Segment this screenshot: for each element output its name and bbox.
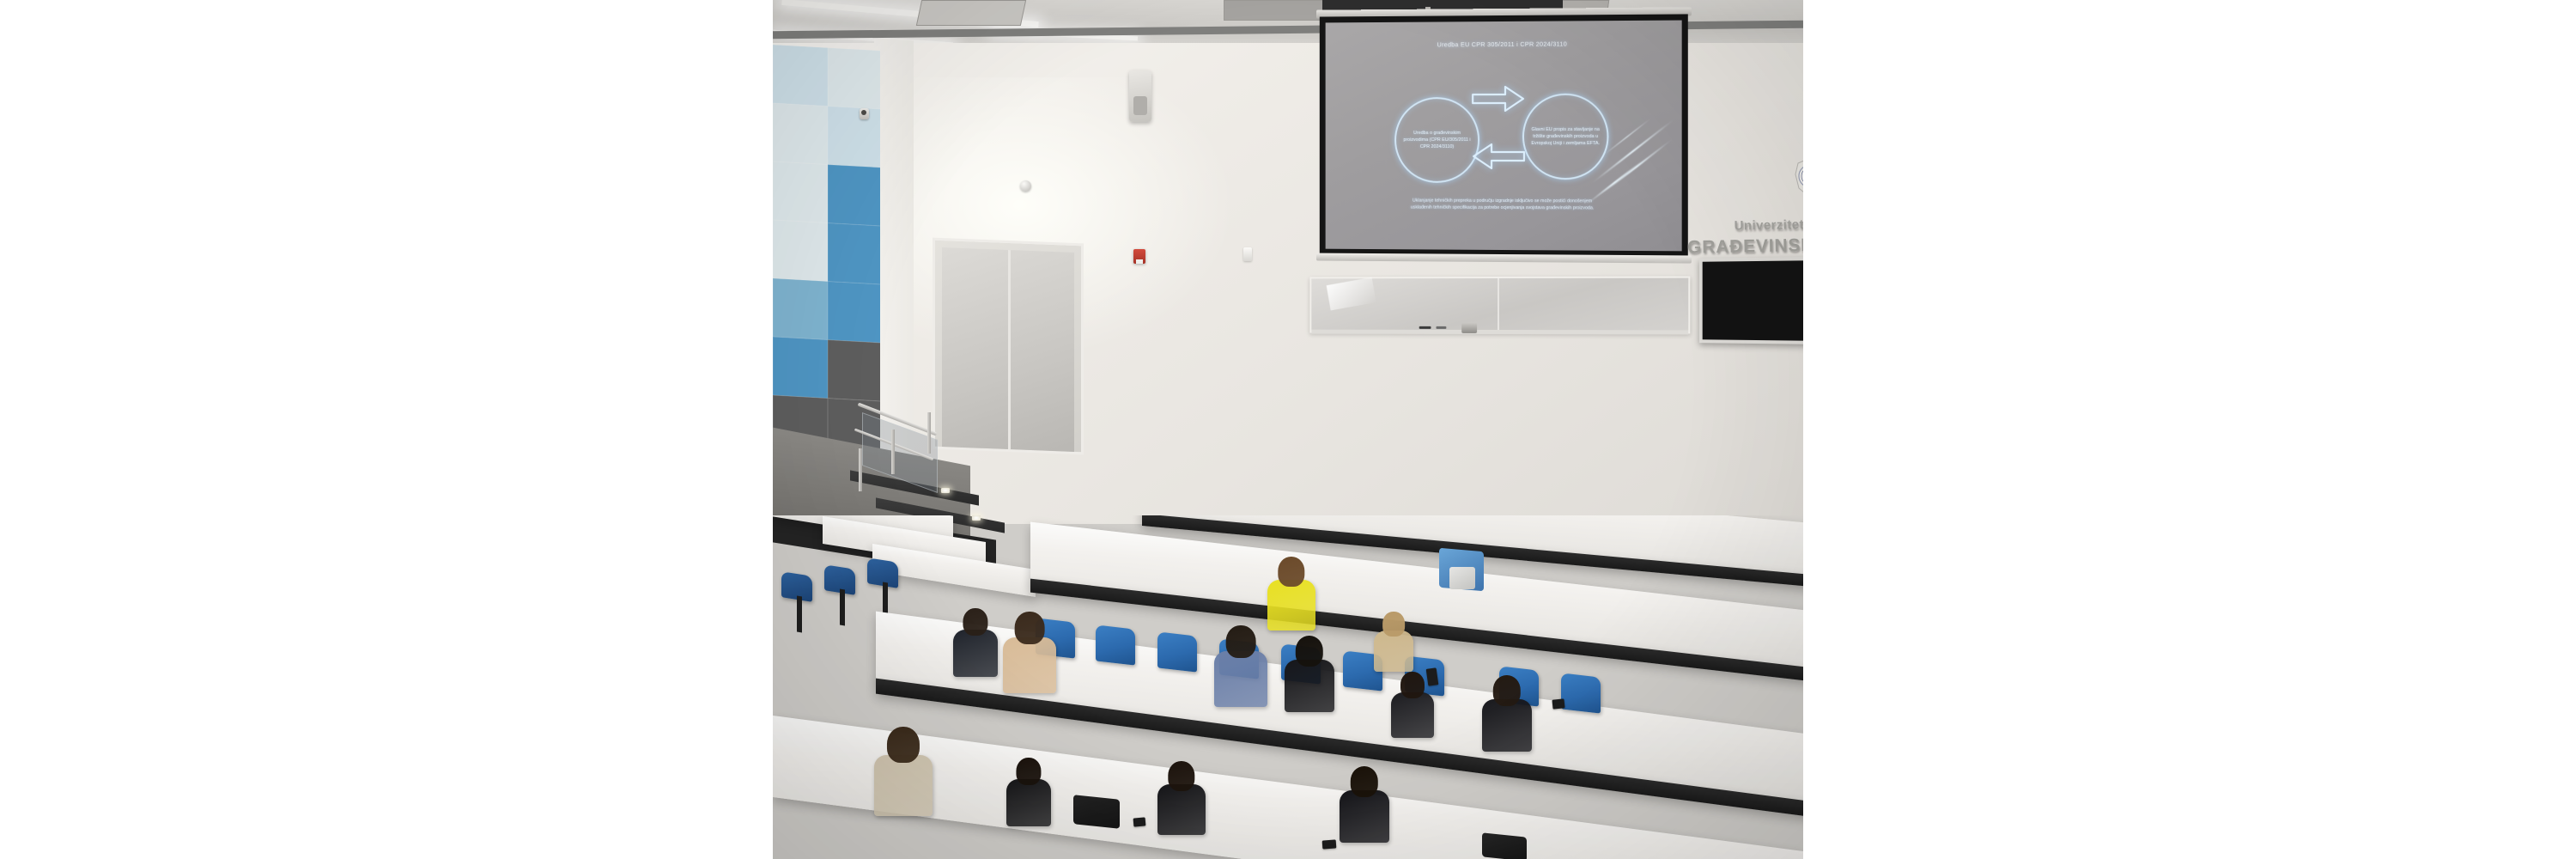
acoustic-panel <box>828 282 880 344</box>
lecture-chair[interactable] <box>1157 631 1197 672</box>
slide-node-left: Uredba o građevinskim proizvodima (CPR E… <box>1394 97 1479 183</box>
student-black-top <box>1285 636 1334 710</box>
light-switch-icon[interactable] <box>1243 247 1252 261</box>
screenshot-canvas: EPSON Univerzitet Crne Gore GRAĐEVINSKI <box>0 0 2576 859</box>
marker-icon[interactable] <box>1419 326 1431 329</box>
person-head <box>1382 612 1405 637</box>
acoustic-panel-wall <box>773 45 880 454</box>
student-right-dark <box>1391 672 1434 736</box>
stair-railing <box>840 411 941 501</box>
projection-screen: Uredba EU CPR 305/2011 i CPR 2024/3110 U… <box>1320 14 1688 265</box>
backpack-pocket <box>1449 567 1475 589</box>
audience-seating <box>773 515 1803 859</box>
person-head <box>1168 761 1194 791</box>
person-head <box>1016 758 1041 785</box>
person-torso <box>1214 651 1267 707</box>
arrow-right-icon <box>1471 84 1526 113</box>
student-front-dark-1 <box>1006 758 1051 825</box>
acoustic-panel <box>773 337 828 399</box>
wall-monitor <box>1699 257 1803 344</box>
acoustic-panel <box>773 103 828 165</box>
student-yellow-shirt <box>1267 557 1315 629</box>
letterbox-left <box>0 0 773 859</box>
student-front-beige <box>874 727 933 814</box>
whiteboard-tray <box>1311 330 1688 335</box>
university-crest-icon <box>1793 157 1803 198</box>
lecture-chair[interactable] <box>1561 673 1601 713</box>
railing-post <box>859 448 862 491</box>
person-torso <box>1285 660 1334 712</box>
student-blue-hoodie <box>1214 625 1267 705</box>
acoustic-panel <box>828 340 880 402</box>
person-torso <box>1340 790 1389 843</box>
signage-university: Univerzitet Crne Gore <box>1705 216 1803 234</box>
phone-icon[interactable] <box>1322 839 1337 849</box>
wall-knob-icon <box>1020 180 1031 192</box>
railing-post <box>891 429 895 474</box>
person-head <box>1278 557 1304 587</box>
person-torso <box>1003 637 1056 693</box>
person-head <box>1226 625 1256 658</box>
slide-footer-text: Uklanjanje tehničkih prepreka u području… <box>1408 198 1596 213</box>
lecture-hall-photo: EPSON Univerzitet Crne Gore GRAĐEVINSKI <box>773 0 1803 859</box>
person-head <box>1493 675 1521 706</box>
acoustic-panel <box>828 223 880 285</box>
person-torso <box>874 755 933 816</box>
lecture-chair[interactable] <box>1096 624 1135 665</box>
signage-faculty: GRAĐEVINSKI FAKULTET <box>1681 233 1803 259</box>
door-divider <box>1008 250 1011 449</box>
student-tan-hoodie <box>1003 612 1056 691</box>
ceiling-camera-icon <box>860 108 869 119</box>
student-far-right <box>1482 675 1532 750</box>
person-head <box>1351 766 1378 797</box>
wall-speaker-icon <box>1129 70 1151 122</box>
slide-node-right: Glavni EU propis za stavljanje na tržišt… <box>1522 94 1608 180</box>
whiteboard-glare <box>1327 277 1376 311</box>
acoustic-panel <box>773 220 828 282</box>
whiteboard-seam <box>1498 278 1499 332</box>
person-torso <box>1374 631 1413 672</box>
person-torso <box>1157 784 1206 835</box>
ceiling-duct <box>916 0 1026 26</box>
person-head <box>1015 612 1045 644</box>
acoustic-panel <box>828 165 880 227</box>
student-dark-jacket <box>953 608 998 675</box>
whiteboard <box>1309 277 1690 334</box>
step-light-icon <box>941 488 950 493</box>
student-long-blonde <box>1374 612 1413 671</box>
acoustic-panel <box>773 161 828 223</box>
person-head <box>963 608 987 636</box>
student-front-dark-2 <box>1157 761 1206 833</box>
acoustic-panel <box>828 107 880 168</box>
person-head <box>887 727 920 763</box>
marker-icon[interactable] <box>1436 326 1446 329</box>
railing-glass <box>862 412 938 493</box>
acoustic-panel <box>773 45 828 107</box>
door-glass <box>942 247 1074 452</box>
person-torso <box>1267 580 1315 631</box>
slide-title: Uredba EU CPR 305/2011 i CPR 2024/3110 <box>1326 40 1682 49</box>
chair-leg <box>797 596 802 633</box>
screen-glare <box>1602 118 1651 156</box>
person-torso <box>953 630 998 677</box>
acoustic-panel <box>773 278 828 340</box>
phone-icon[interactable] <box>1552 698 1564 709</box>
student-front-dark-3 <box>1340 766 1389 841</box>
laptop-bag <box>1073 795 1120 829</box>
fire-alarm-icon[interactable] <box>1133 249 1145 264</box>
chair-leg <box>840 589 845 626</box>
eraser-icon[interactable] <box>1461 323 1477 333</box>
slide-surface: Uredba EU CPR 305/2011 i CPR 2024/3110 U… <box>1326 21 1682 252</box>
handbag <box>1482 832 1527 859</box>
railing-post <box>927 412 931 454</box>
person-torso <box>1391 692 1434 738</box>
person-head <box>1296 636 1323 667</box>
slide-node-left-text: Uredba o građevinskim proizvodima (CPR E… <box>1396 130 1478 150</box>
slide-node-right-text: Glavni EU propis za stavljanje na tržišt… <box>1524 126 1607 147</box>
person-torso <box>1006 779 1051 826</box>
letterbox-right <box>1803 0 2576 859</box>
phone-icon[interactable] <box>1133 817 1146 826</box>
arrow-left-icon <box>1471 142 1526 171</box>
person-head <box>1400 672 1425 698</box>
person-torso <box>1482 699 1532 752</box>
acoustic-panel <box>828 48 880 110</box>
screen-weight-bar <box>1316 253 1692 264</box>
doorway[interactable] <box>933 238 1084 455</box>
